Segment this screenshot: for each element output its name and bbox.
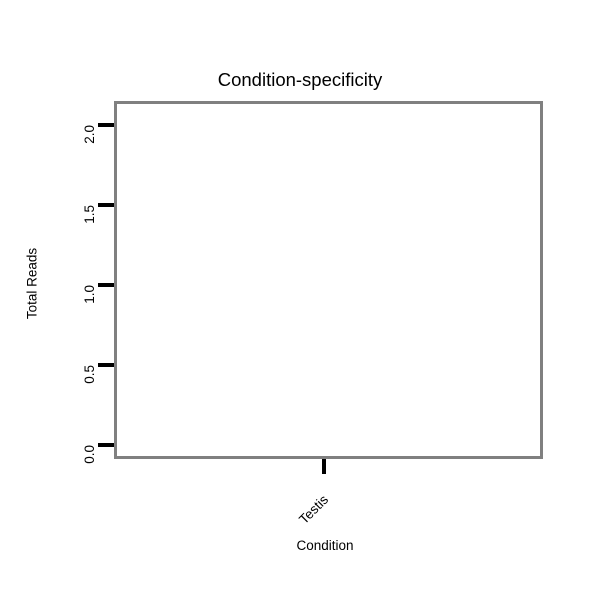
y-tick-mark-0-5 bbox=[98, 363, 114, 367]
plot-frame bbox=[114, 101, 543, 459]
y-axis-title: Total Reads bbox=[25, 224, 40, 344]
y-tick-label-0-0: 0.0 bbox=[83, 445, 97, 505]
chart-title: Condition-specificity bbox=[0, 70, 600, 90]
x-axis-title: Condition bbox=[0, 538, 600, 554]
y-tick-label-2-0: 2.0 bbox=[83, 125, 97, 185]
y-tick-label-1-5: 1.5 bbox=[83, 205, 97, 265]
y-tick-label-2-0-wrap: 2.0 bbox=[30, 118, 90, 132]
y-tick-label-1-5-wrap: 1.5 bbox=[30, 198, 90, 212]
y-tick-mark-2-0 bbox=[98, 123, 114, 127]
x-tick-mark-testis bbox=[322, 459, 326, 474]
y-tick-label-0-5-wrap: 0.5 bbox=[30, 358, 90, 372]
y-tick-label-1-0: 1.0 bbox=[83, 285, 97, 345]
y-tick-label-0-0-wrap: 0.0 bbox=[30, 438, 90, 452]
y-tick-mark-0-0 bbox=[98, 443, 114, 447]
x-tick-label-testis: Testis bbox=[296, 492, 331, 527]
y-tick-label-0-5: 0.5 bbox=[83, 365, 97, 425]
chart-container: Condition-specificity 2.0 1.5 1.0 0.5 0.… bbox=[0, 0, 600, 600]
y-tick-mark-1-5 bbox=[98, 203, 114, 207]
y-tick-mark-1-0 bbox=[98, 283, 114, 287]
